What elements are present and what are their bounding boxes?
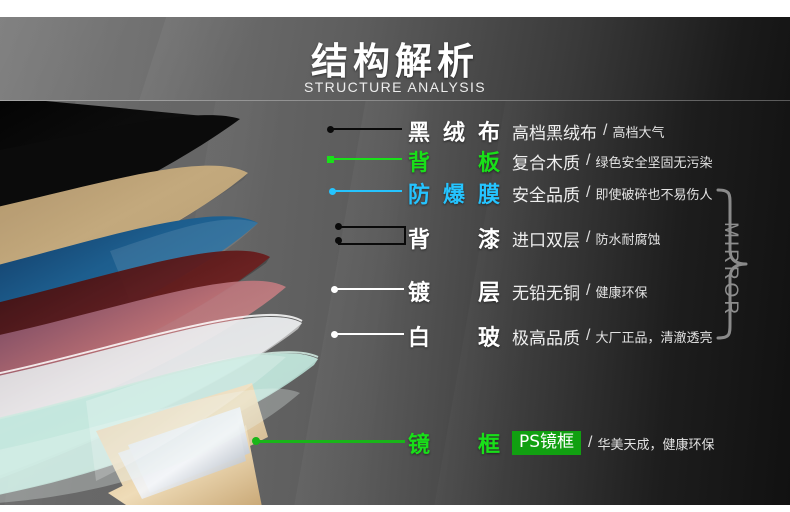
layer-row-3: 防爆膜 安全品质 / 即使破碎也不易伤人: [408, 177, 712, 209]
layer-desc-sub-4: 防水耐腐蚀: [595, 229, 660, 248]
connector-bracket-4-dot-top: [335, 223, 342, 230]
layer-desc-main-1: 高档黑绒布: [512, 119, 597, 144]
layer-desc-sub-5: 健康环保: [595, 282, 647, 301]
layer-term-5: 镀层: [408, 275, 500, 307]
header-banner: 结构解析 STRUCTURE ANALYSIS: [0, 17, 790, 101]
layer-desc-main-2: 复合木质: [512, 149, 580, 174]
connector-line-5: [334, 288, 404, 290]
layer-row-4: 背漆 进口双层 / 防水耐腐蚀: [408, 222, 660, 254]
layer-row-6: 白玻 极高品质 / 大厂正品，清澈透亮: [408, 320, 712, 352]
connector-line-7: [255, 440, 405, 443]
connector-line-2: [330, 158, 402, 160]
top-white-strip: [0, 0, 790, 17]
layer-term-6: 白玻: [408, 320, 500, 352]
layer-term-7: 镜框: [408, 427, 500, 459]
exploded-layers-illustration: [0, 101, 420, 505]
layer-separator-3: /: [586, 184, 590, 202]
layer-separator-4: /: [586, 229, 590, 247]
layer-desc-main-5: 无铅无铜: [512, 279, 580, 304]
layer-desc-main-6: 极高品质: [512, 324, 580, 349]
layer-separator-6: /: [586, 327, 590, 345]
mirror-label: MIRROR: [719, 222, 741, 317]
page-title-en: STRUCTURE ANALYSIS: [0, 79, 790, 95]
layer-term-4: 背漆: [408, 222, 500, 254]
layer-desc-sub-6: 大厂正品，清澈透亮: [595, 327, 712, 346]
layer-desc-sub-2: 绿色安全坚固无污染: [595, 152, 712, 171]
layer-term-2: 背板: [408, 145, 500, 177]
structure-analysis-infographic: 结构解析 STRUCTURE ANALYSIS: [0, 0, 790, 512]
layer-desc-main-4: 进口双层: [512, 226, 580, 251]
ps-frame-badge: PS镜框: [512, 431, 581, 456]
layer-separator-1: /: [603, 122, 607, 140]
layer-desc-sub-3: 即使破碎也不易伤人: [595, 184, 712, 203]
layer-desc-main-3: 安全品质: [512, 181, 580, 206]
layer-desc-sub-7: 华美天成，健康环保: [598, 434, 715, 453]
layer-term-3: 防爆膜: [408, 177, 500, 209]
connector-bracket-4-dot-bottom: [335, 237, 342, 244]
layer-separator-7: /: [588, 434, 592, 452]
layer-row-2: 背板 复合木质 / 绿色安全坚固无污染: [408, 145, 712, 177]
connector-bracket-4: [338, 226, 406, 245]
connector-line-3: [332, 190, 402, 192]
layer-desc-sub-1: 高档大气: [612, 122, 664, 141]
connector-line-6: [334, 333, 404, 335]
connector-line-1: [330, 128, 402, 130]
layer-row-7: 镜框 PS镜框 / 华美天成，健康环保: [408, 427, 715, 459]
layer-separator-5: /: [586, 282, 590, 300]
page-title-cn: 结构解析: [0, 31, 790, 85]
layer-row-1: 黑绒布 高档黑绒布 / 高档大气: [408, 115, 664, 147]
layer-separator-2: /: [586, 152, 590, 170]
layer-term-1: 黑绒布: [408, 115, 500, 147]
bottom-white-strip: [0, 505, 790, 512]
layer-row-5: 镀层 无铅无铜 / 健康环保: [408, 275, 647, 307]
